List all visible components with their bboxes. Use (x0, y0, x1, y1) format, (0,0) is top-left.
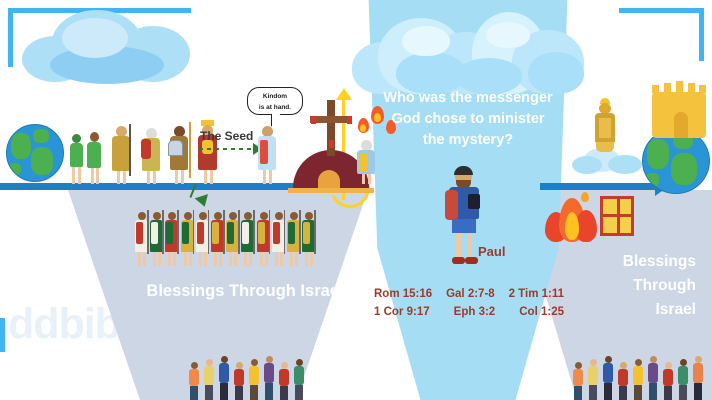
figure-head (138, 212, 146, 220)
figure-body (633, 366, 643, 385)
list-item (225, 210, 240, 268)
list-item (164, 210, 179, 268)
figure-sash (197, 222, 204, 244)
blessings-through-israel-label-left: Blessings Through Israel (125, 282, 365, 301)
list-item (248, 359, 260, 400)
cloud-icon (22, 8, 192, 84)
modern-crowd-icon (188, 356, 320, 400)
figure-head (184, 212, 192, 220)
cross-tomb-icon (347, 116, 352, 124)
figure-leg (280, 252, 283, 266)
figure-leg (244, 252, 247, 266)
verse-ref: 2 Tim 1:11 (509, 285, 564, 303)
figure-head (266, 356, 273, 363)
question-line-2: God chose to minister (372, 109, 564, 130)
table-row: Rom 15:16 Gal 2:7-8 2 Tim 1:11 (374, 285, 564, 303)
earth-globe-icon (6, 124, 64, 182)
cross-tomb-icon (310, 116, 352, 123)
corner-bracket-icon (0, 318, 5, 352)
list-item (293, 359, 305, 400)
figure-legs (619, 386, 627, 400)
verse-ref: Rom 15:16 (374, 285, 432, 303)
pentecost-flames-icon (360, 124, 366, 132)
figure-body (573, 369, 583, 386)
label-line-2: Through (596, 274, 696, 298)
figure-sash (258, 222, 265, 244)
golden-city-globe-icon (674, 112, 688, 138)
figure-leg (143, 252, 146, 266)
figure-leg (249, 252, 252, 266)
verse-ref: Eph 3:2 (454, 303, 496, 321)
figure-sash (151, 222, 158, 244)
figure-head (214, 212, 222, 220)
list-item (278, 362, 290, 400)
figure-legs (679, 385, 687, 400)
figure-body (204, 366, 214, 385)
figure-body (294, 366, 304, 385)
list-item (301, 210, 316, 268)
figure-sash (182, 222, 189, 244)
figure-leg (229, 252, 232, 266)
figure-legs (589, 385, 597, 400)
figure-leg (204, 252, 207, 266)
figure-leg (153, 252, 156, 266)
new-jerusalem-gate-icon (600, 196, 634, 236)
timeline-arrow-right-icon (540, 183, 658, 190)
figure-body (663, 369, 673, 386)
paul-label: Paul (478, 244, 505, 259)
seed-label: The Seed (200, 129, 253, 143)
adam-eve-icon (86, 132, 102, 184)
list-item (233, 362, 245, 400)
figure-head (221, 356, 228, 363)
list-item (602, 356, 614, 400)
figure-body (678, 366, 688, 385)
figure-body (648, 363, 658, 383)
figure-body (219, 363, 229, 383)
figure-head (695, 356, 702, 363)
figure-head (168, 212, 176, 220)
figure-head (305, 212, 313, 220)
figure-sash (166, 222, 173, 244)
figure-legs (664, 386, 672, 400)
figure-leg (265, 252, 268, 266)
figure-leg (290, 252, 293, 266)
figure-leg (305, 252, 308, 266)
figure-leg (219, 252, 222, 266)
cross-tomb-icon (288, 188, 374, 193)
figure-legs (694, 383, 702, 400)
figure-body (618, 369, 628, 386)
speech-bubble-tail-icon (272, 113, 281, 126)
figure-head (296, 359, 303, 366)
figure-legs (295, 385, 303, 400)
figure-leg (275, 252, 278, 266)
figure-leg (168, 252, 171, 266)
question-line-3: the mystery? (372, 130, 564, 151)
list-item (617, 362, 629, 400)
list-item (677, 359, 689, 400)
figure-head (275, 212, 283, 220)
list-item (263, 356, 275, 400)
list-item (134, 210, 149, 268)
figure-head (575, 362, 582, 369)
figure-head (620, 362, 627, 369)
figure-legs (634, 385, 642, 400)
list-item (180, 210, 195, 268)
figure-head (590, 359, 597, 366)
verse-ref: Gal 2:7-8 (446, 285, 495, 303)
figure-head (635, 359, 642, 366)
figure-sash (273, 222, 280, 244)
figure-leg (214, 252, 217, 266)
figure-leg (138, 252, 141, 266)
yellow-up-arrow-icon (336, 88, 352, 100)
staff-icon (314, 210, 316, 254)
cross-tomb-icon (311, 116, 316, 124)
figure-head (605, 356, 612, 363)
figure-body (693, 363, 703, 383)
figure-head (251, 359, 258, 366)
figure-head (199, 212, 207, 220)
speech-bubble: Kindom is at hand. (247, 87, 303, 115)
speech-bubble-line-1: Kindom (263, 93, 287, 100)
figure-body (249, 366, 259, 385)
list-item (692, 356, 704, 400)
figure-sash (227, 222, 234, 244)
label-line-1: Blessings (596, 250, 696, 274)
adam-eve-icon (68, 134, 84, 184)
cross-tomb-icon (329, 140, 334, 148)
figure-leg (310, 252, 313, 266)
list-item (256, 210, 271, 268)
figure-body (234, 369, 244, 386)
infographic-canvas: ddbible.com (0, 0, 712, 400)
label-line-3: Israel (596, 298, 696, 322)
figure-legs (280, 386, 288, 400)
list-item (218, 356, 230, 400)
list-item (587, 359, 599, 400)
verse-reference-list: Rom 15:16 Gal 2:7-8 2 Tim 1:11 1 Cor 9:1… (374, 285, 564, 321)
list-item (203, 359, 215, 400)
figure-head (206, 359, 213, 366)
question-line-1: Who was the messenger (372, 88, 564, 109)
noah-icon (110, 126, 132, 184)
figure-head (281, 362, 288, 369)
figure-legs (649, 383, 657, 400)
list-item (195, 210, 210, 268)
figure-legs (190, 386, 198, 400)
figure-sash (288, 222, 295, 244)
list-item (240, 210, 255, 268)
abraham-icon (140, 128, 162, 184)
list-item (632, 359, 644, 400)
figure-legs (604, 383, 612, 400)
figure-head (290, 212, 298, 220)
list-item (572, 362, 584, 400)
list-item (286, 210, 301, 268)
list-item (188, 362, 200, 400)
figure-head (260, 212, 268, 220)
figure-legs (265, 383, 273, 400)
twelve-tribes-row-icon (134, 210, 320, 268)
list-item (271, 210, 286, 268)
figure-head (680, 359, 687, 366)
fire-judgment-icon (545, 196, 597, 242)
verse-ref: Col 1:25 (519, 303, 564, 321)
speech-bubble-line-2: is at hand. (259, 104, 291, 111)
moses-tablets-icon (168, 126, 192, 184)
figure-leg (234, 252, 237, 266)
figure-leg (184, 252, 187, 266)
corner-bracket-icon (619, 8, 704, 61)
figure-leg (158, 252, 161, 266)
figure-head (191, 362, 198, 369)
figure-body (588, 366, 598, 385)
cloud-icon (352, 8, 584, 94)
blessings-through-israel-label-right: Blessings Through Israel (596, 250, 696, 322)
figure-legs (574, 386, 582, 400)
figure-legs (220, 383, 228, 400)
figure-head (236, 362, 243, 369)
figure-sash (242, 222, 249, 244)
figure-body (603, 363, 613, 383)
figure-body (264, 363, 274, 383)
figure-head (244, 212, 252, 220)
figure-leg (295, 252, 298, 266)
list-item (662, 362, 674, 400)
jesus-icon (256, 126, 278, 184)
dotted-arrow-right-icon (199, 148, 253, 150)
figure-leg (199, 252, 202, 266)
figure-sash (136, 222, 143, 244)
figure-sash (303, 222, 310, 244)
modern-crowd-icon (572, 356, 712, 400)
figure-legs (235, 386, 243, 400)
figure-body (189, 369, 199, 386)
list-item (647, 356, 659, 400)
figure-leg (260, 252, 263, 266)
list-item (210, 210, 225, 268)
figure-leg (189, 252, 192, 266)
figure-leg (173, 252, 176, 266)
page-title: Who was the messenger God chose to minis… (372, 88, 564, 151)
figure-sash (212, 222, 219, 244)
figure-head (665, 362, 672, 369)
list-item (149, 210, 164, 268)
figure-body (279, 369, 289, 386)
figure-head (229, 212, 237, 220)
golden-city-globe-icon (652, 92, 706, 138)
figure-legs (205, 385, 213, 400)
verse-ref: 1 Cor 9:17 (374, 303, 430, 321)
ascending-glorified-figure-icon (592, 98, 618, 154)
table-row: 1 Cor 9:17 Eph 3:2 Col 1:25 (374, 303, 564, 321)
figure-head (650, 356, 657, 363)
figure-head (153, 212, 161, 220)
figure-legs (250, 385, 258, 400)
